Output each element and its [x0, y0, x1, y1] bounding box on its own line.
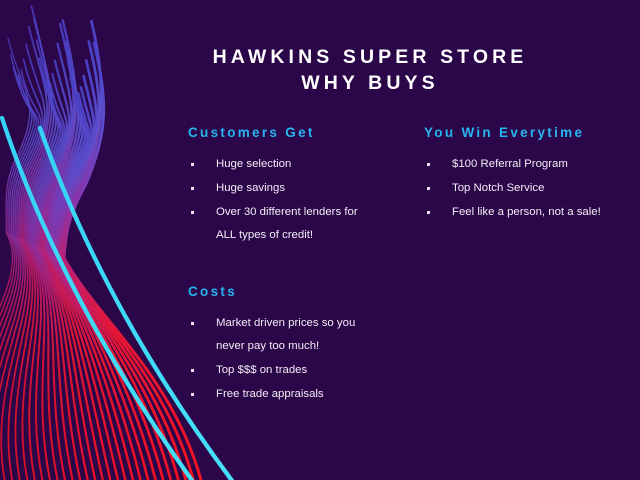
bullet-text: Over 30 different lenders for [216, 206, 358, 218]
list-item: Huge selection [188, 153, 403, 176]
list-item: Market driven prices so you never pay to… [188, 312, 403, 358]
bullet-dot-icon [191, 322, 194, 325]
bullet-text: Top Notch Service [452, 182, 544, 194]
section-customers-get: Customers Get Huge selection Huge saving… [188, 125, 403, 248]
bullet-text: Free trade appraisals [216, 388, 324, 400]
bullet-dot-icon [427, 187, 430, 190]
bullet-text-continued: ALL types of credit! [216, 224, 403, 247]
section-you-win-everytime: You Win Everytime $100 Referral Program … [424, 125, 639, 225]
title-line-2: WHY BUYS [150, 70, 590, 96]
bullet-text: Feel like a person, not a sale! [452, 206, 601, 218]
bullet-list-costs: Market driven prices so you never pay to… [188, 312, 403, 406]
bullet-text: Top $$$ on trades [216, 364, 307, 376]
bullet-dot-icon [427, 211, 430, 214]
list-item: Feel like a person, not a sale! [424, 201, 639, 224]
bullet-text: Market driven prices so you [216, 317, 355, 329]
slide-canvas: HAWKINS SUPER STORE WHY BUYS Customers G… [0, 0, 640, 480]
list-item: Huge savings [188, 177, 403, 200]
list-item: Top Notch Service [424, 177, 639, 200]
bullet-dot-icon [427, 163, 430, 166]
bullet-text: $100 Referral Program [452, 158, 568, 170]
bullet-dot-icon [191, 187, 194, 190]
bullet-text: Huge selection [216, 158, 291, 170]
section-heading-costs: Costs [188, 284, 403, 299]
section-heading-customers-get: Customers Get [188, 125, 403, 140]
bullet-text-continued: never pay too much! [216, 335, 403, 358]
list-item: $100 Referral Program [424, 153, 639, 176]
list-item: Over 30 different lenders for ALL types … [188, 201, 403, 247]
title-line-1: HAWKINS SUPER STORE [150, 44, 590, 70]
bullet-dot-icon [191, 369, 194, 372]
section-heading-you-win-everytime: You Win Everytime [424, 125, 639, 140]
bullet-dot-icon [191, 393, 194, 396]
slide-title: HAWKINS SUPER STORE WHY BUYS [150, 44, 590, 96]
list-item: Free trade appraisals [188, 383, 403, 406]
bullet-list-customers-get: Huge selection Huge savings Over 30 diff… [188, 153, 403, 247]
bullet-dot-icon [191, 211, 194, 214]
list-item: Top $$$ on trades [188, 359, 403, 382]
bullet-text: Huge savings [216, 182, 285, 194]
bullet-list-you-win-everytime: $100 Referral Program Top Notch Service … [424, 153, 639, 224]
section-costs: Costs Market driven prices so you never … [188, 284, 403, 407]
bullet-dot-icon [191, 163, 194, 166]
